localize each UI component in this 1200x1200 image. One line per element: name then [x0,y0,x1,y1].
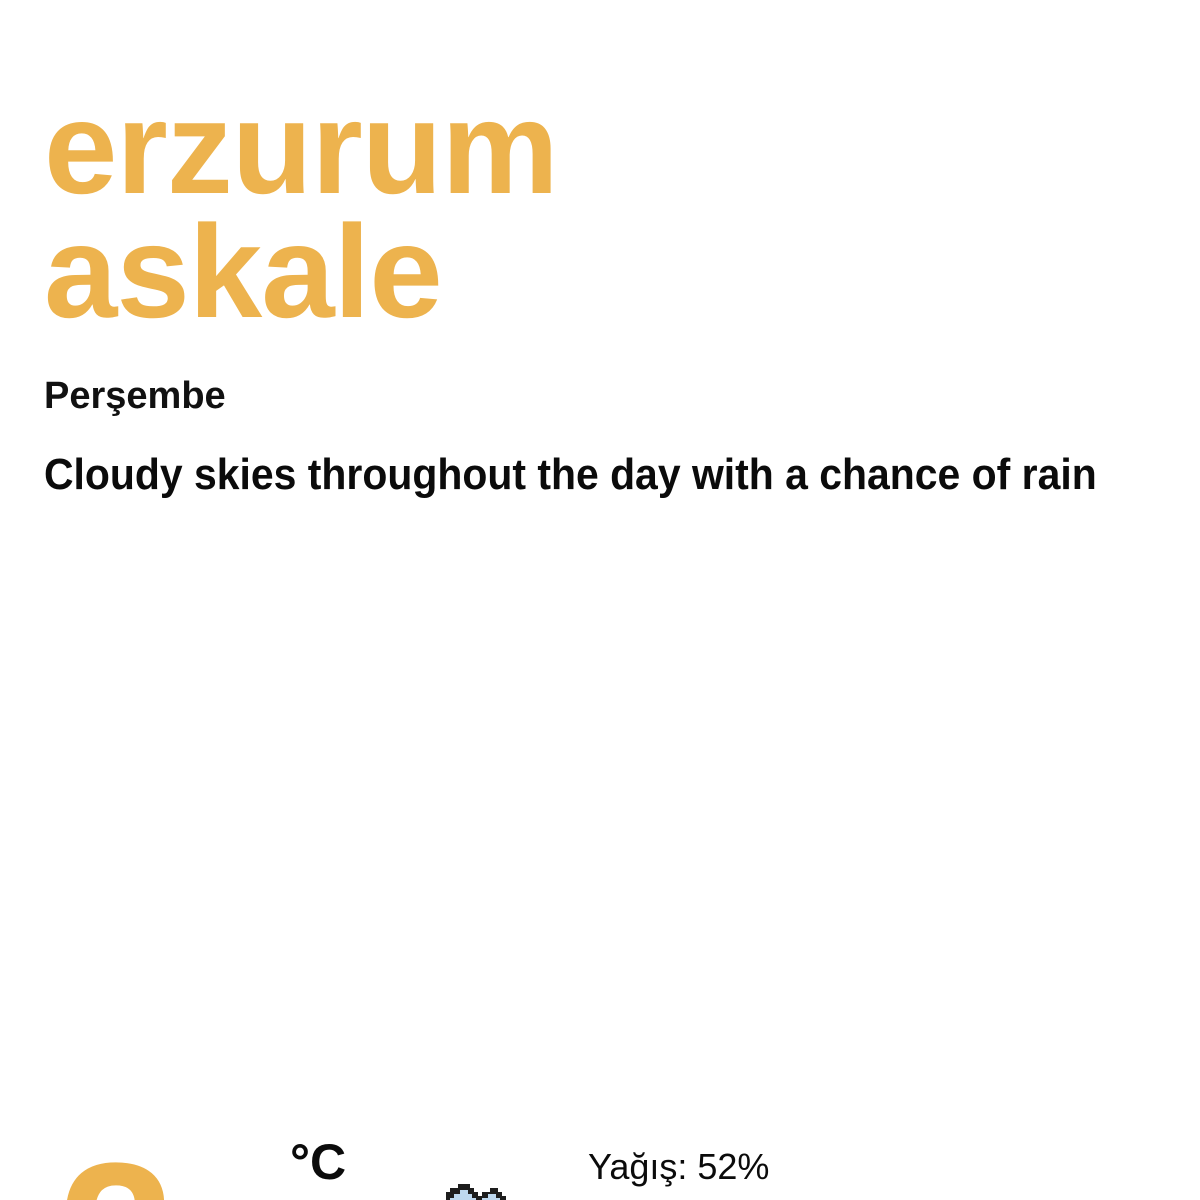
weather-details-list: Yağış: 52% Nem: 88% Rüzgar: 6km/s Görüş … [588,1142,948,1200]
temperature-value: 2 [58,1132,173,1200]
detail-precipitation: Yağış: 52% [588,1142,948,1191]
weather-summary: Cloudy skies throughout the day with a c… [44,448,1200,502]
location-title: erzurum askale [44,86,1184,334]
readings-row: 2 °C [0,560,1200,800]
detail-humidity: Nem: 88% [588,1191,948,1200]
weather-card: erzurum askale Perşembe Cloudy skies thr… [0,0,1200,1200]
cloud-with-snow-icon [418,1168,530,1200]
temperature-unit: °C [290,1136,346,1188]
day-name: Perşembe [44,374,226,418]
